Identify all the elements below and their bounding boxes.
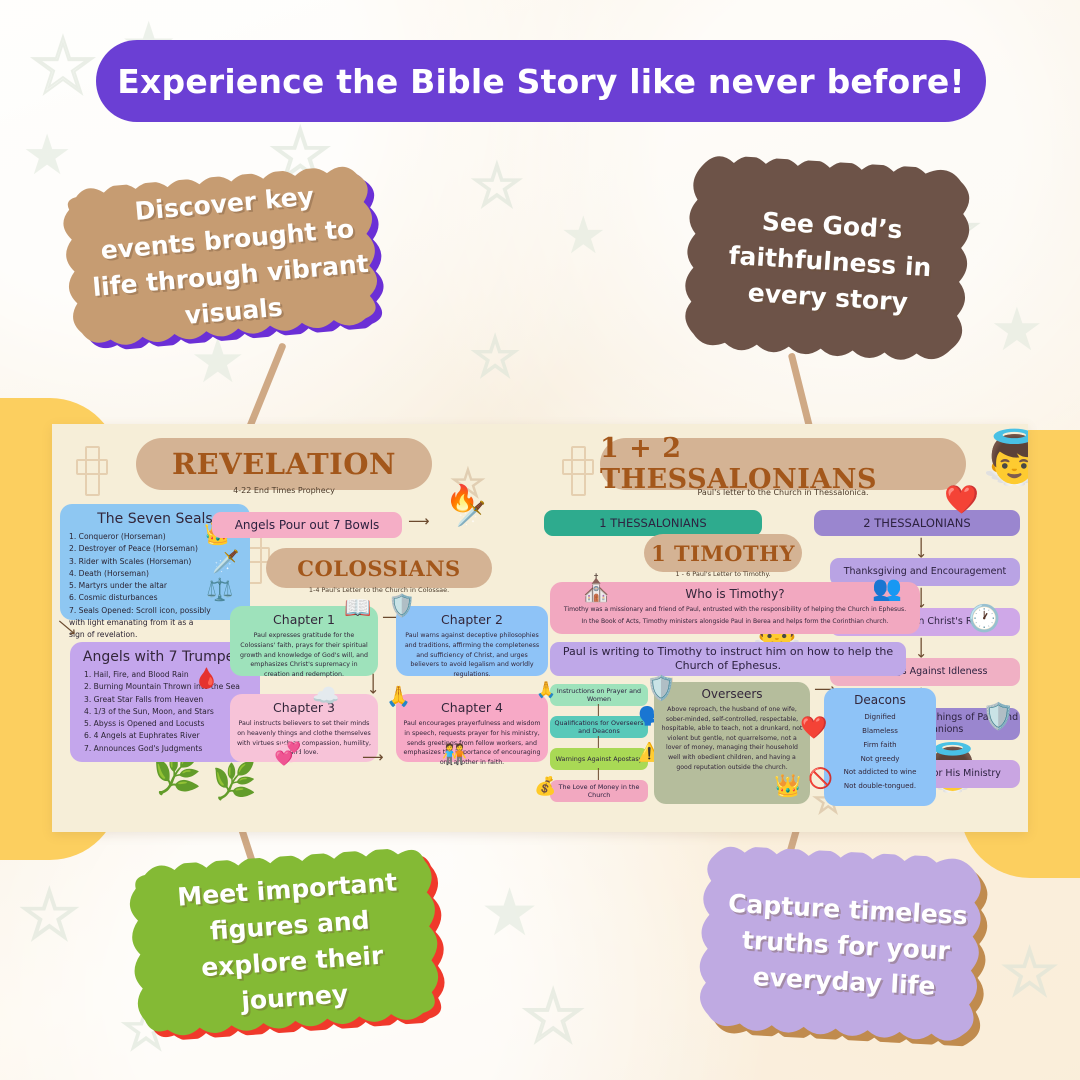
background-star-doodle: ★ bbox=[22, 128, 72, 184]
timothy-subtitle: 1 - 6 Paul's Letter to Timothy. bbox=[644, 570, 802, 578]
scales-icon: ⚖️ bbox=[206, 580, 233, 602]
thessalonians-title-pill: 1 + 2 THESSALONIANS bbox=[600, 438, 966, 490]
praying-hands-icon: 🙏 bbox=[386, 686, 411, 706]
chapter-heading: Chapter 2 bbox=[396, 606, 548, 627]
deacons-item: Dignified bbox=[824, 707, 936, 723]
shield-icon: 🛡️ bbox=[388, 596, 415, 618]
sword-icon: 🗡️ bbox=[456, 502, 486, 526]
hearts-icon: 💞 bbox=[274, 744, 301, 766]
list-item: 4. 1/3 of the Sun, Moon, and Stars bbox=[84, 706, 251, 718]
cross-doodle bbox=[562, 446, 590, 492]
chapter-text: Paul expresses gratitude for the Colossi… bbox=[230, 627, 378, 680]
seven-bowls-label[interactable]: Angels Pour out 7 Bowls bbox=[212, 512, 402, 538]
background-star-doodle: ☆ bbox=[1000, 940, 1059, 1006]
infographic-panel[interactable]: ✝ 👼 👼 👼 🌿 🌿 ☆ ☆ ☆ REVELATION 4-22 End Ti… bbox=[52, 424, 1028, 832]
shield-icon: 🛡️ bbox=[982, 704, 1014, 730]
who-is-timothy-line2: In the Book of Acts, Timothy ministers a… bbox=[550, 614, 920, 626]
overseers-text: Above reproach, the husband of one wife,… bbox=[654, 701, 810, 772]
callout-text: See God’s faithfulness in every story bbox=[701, 200, 959, 324]
list-item: 3. Great Star Falls from Heaven bbox=[84, 694, 251, 706]
background-star-doodle: ☆ bbox=[470, 330, 520, 386]
flow-arrow: ⟶ bbox=[913, 537, 928, 559]
chapter-heading: Chapter 3 bbox=[230, 694, 378, 715]
callout-text: Discover key events brought to life thro… bbox=[82, 173, 376, 342]
deacons-item: Blameless bbox=[824, 723, 936, 737]
colossians-chapter-4[interactable]: Chapter 4 Paul encourages prayerfulness … bbox=[396, 694, 548, 762]
colossians-chapter-2[interactable]: Chapter 2 Paul warns against deceptive p… bbox=[396, 606, 548, 676]
callout-text: Meet important figures and explore their… bbox=[151, 862, 430, 1025]
heart-icon: ❤️ bbox=[944, 486, 979, 514]
background-star-doodle: ☆ bbox=[470, 156, 524, 216]
angel-doodle: 👼 bbox=[982, 432, 1028, 484]
thessalonians-title: 1 + 2 THESSALONIANS bbox=[600, 433, 966, 495]
callout-figures[interactable]: Meet important figures and explore their… bbox=[126, 845, 456, 1043]
flow-arrow: ⟶ bbox=[913, 637, 928, 659]
callout-truths[interactable]: Capture timeless truths for your everyda… bbox=[687, 844, 1004, 1048]
flow-arrow: ⟶ bbox=[365, 673, 380, 695]
sword-icon: 🗡️ bbox=[212, 552, 239, 574]
cross-doodle bbox=[76, 446, 104, 492]
list-item: 2. Burning Mountain Thrown into the Sea bbox=[84, 681, 251, 693]
background-star-doodle: ★ bbox=[560, 210, 607, 262]
headline-text: Experience the Bible Story like never be… bbox=[117, 62, 964, 101]
no-wine-icon: 🚫 bbox=[808, 768, 833, 788]
cloud-icon: ☁️ bbox=[312, 686, 339, 708]
blood-drop-icon: 🩸 bbox=[194, 668, 219, 688]
list-item: with light emanating from it as a bbox=[69, 617, 241, 629]
colossians-title-pill: COLOSSIANS bbox=[266, 548, 492, 588]
list-item: sign of revelation. bbox=[69, 629, 241, 641]
timothy-title: 1 TIMOTHY bbox=[651, 541, 795, 566]
open-book-icon: 📖 bbox=[344, 598, 371, 620]
chapter-text: Paul instructs believers to set their mi… bbox=[230, 715, 378, 758]
callout-text: Capture timeless truths for your everyda… bbox=[713, 885, 978, 1007]
deacons-item: Not addicted to wine bbox=[824, 764, 936, 778]
background-star-doodle: ★ bbox=[480, 880, 539, 946]
headline-banner: Experience the Bible Story like never be… bbox=[96, 40, 986, 122]
flow-arrow: ⟶ bbox=[362, 750, 384, 765]
people-icon: 🧑‍🤝‍🧑 bbox=[442, 744, 467, 764]
revelation-title-pill: REVELATION bbox=[136, 438, 432, 490]
list-item: 5. Abyss is Opened and Locusts bbox=[84, 718, 251, 730]
church-icon: ⛪ bbox=[580, 576, 612, 602]
chapter-heading: Chapter 4 bbox=[396, 694, 548, 715]
thessalonians-subtitle: Paul's letter to the Church in Thessalon… bbox=[600, 488, 966, 497]
heart-icon: ❤️ bbox=[800, 718, 827, 740]
flow-arrow: ⟶ bbox=[408, 514, 430, 529]
callout-faithfulness[interactable]: See God’s faithfulness in every story bbox=[674, 153, 986, 371]
deacons-item: Firm faith bbox=[824, 737, 936, 751]
deacons-heading: Deacons bbox=[824, 688, 936, 707]
background-star-doodle: ☆ bbox=[18, 880, 81, 950]
background-star-doodle: ☆ bbox=[28, 28, 98, 106]
list-item: 1. Hail, Fire, and Blood Rain bbox=[84, 669, 251, 681]
deacons-box[interactable]: Deacons Dignified Blameless Firm faith N… bbox=[824, 688, 936, 806]
background-star-doodle: ☆ bbox=[520, 980, 586, 1054]
colossians-chapter-3[interactable]: Chapter 3 Paul instructs believers to se… bbox=[230, 694, 378, 762]
list-item: 7. Announces God's Judgments bbox=[84, 743, 251, 755]
shield-icon: 🛡️ bbox=[646, 676, 676, 700]
chapter-text: Paul warns against deceptive philosophie… bbox=[396, 627, 548, 680]
plant-doodle: 🌿 bbox=[212, 764, 257, 800]
1-thessalonians-label[interactable]: 1 THESSALONIANS bbox=[544, 510, 762, 536]
timothy-purpose[interactable]: Paul is writing to Timothy to instruct h… bbox=[550, 642, 906, 676]
colossians-title: COLOSSIANS bbox=[297, 556, 460, 581]
list-item: 6. 4 Angels at Euphrates River bbox=[84, 730, 251, 742]
money-icon: 💰 bbox=[534, 778, 556, 796]
timothy-title-pill: 1 TIMOTHY bbox=[644, 534, 802, 572]
group-icon: 👥 bbox=[872, 576, 902, 600]
list-item: 7. Seals Opened: Scroll icon, possibly bbox=[69, 605, 241, 617]
timothy-step-4[interactable]: The Love of Money in the Church bbox=[550, 780, 648, 802]
background-star-doodle: ★ bbox=[990, 300, 1044, 360]
callout-discover[interactable]: Discover key events brought to life thro… bbox=[57, 162, 400, 354]
revelation-subtitle: 4-22 End Times Prophecy bbox=[136, 486, 432, 495]
2-thessalonians-label[interactable]: 2 THESSALONIANS bbox=[814, 510, 1020, 536]
deacons-item: Not double-tongued. bbox=[824, 778, 936, 792]
clock-icon: 🕐 bbox=[968, 606, 1000, 632]
praying-hands-icon: 🙏 bbox=[536, 682, 556, 698]
deacons-item: Not greedy bbox=[824, 751, 936, 765]
colossians-subtitle: 1-4 Paul's Letter to the Church in Colos… bbox=[266, 586, 492, 594]
overseers-heading: Overseers bbox=[654, 682, 810, 701]
revelation-title: REVELATION bbox=[172, 447, 396, 481]
crown-icon: 👑 bbox=[774, 776, 801, 798]
chapter-text: Paul encourages prayerfulness and wisdom… bbox=[396, 715, 548, 768]
